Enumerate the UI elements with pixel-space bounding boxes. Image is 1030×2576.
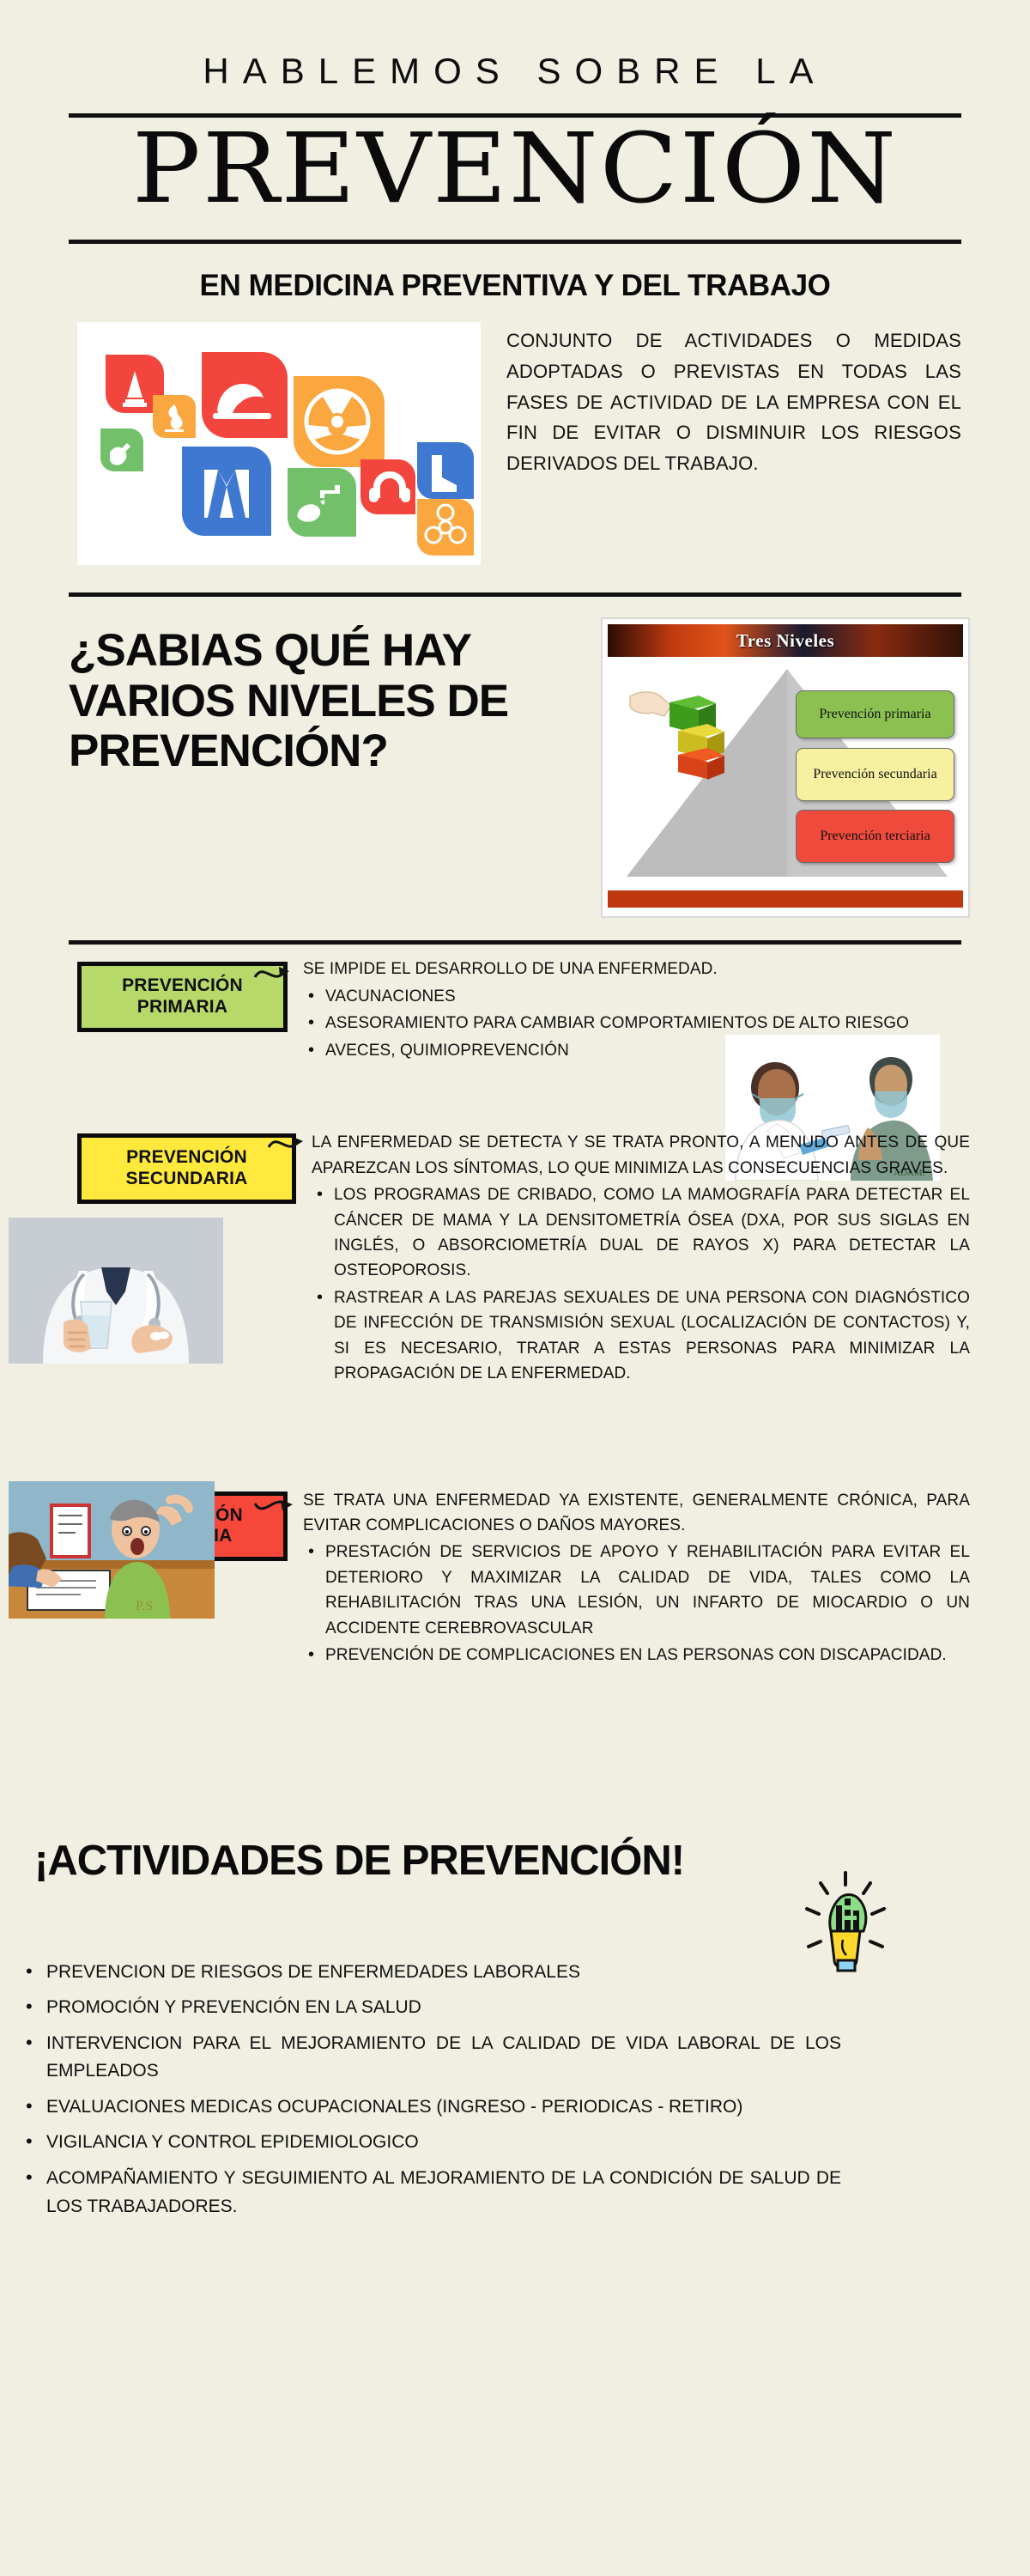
activities-section: ¡ACTIVIDADES DE PREVENCIÓN! PREVENCION D…: [0, 1668, 1030, 2221]
stacked-colored-blocks-with-hand: [630, 692, 724, 780]
list-item: PREVENCION DE RIESGOS DE ENFERMEDADES LA…: [17, 1959, 841, 1987]
safety-gloves-icon: [100, 428, 143, 471]
list-item: PREVENCIÓN DE COMPLICACIONES EN LAS PERS…: [303, 1643, 970, 1668]
page-title: PREVENCIÓN: [42, 121, 988, 217]
arrow-primaria-icon: [253, 960, 291, 989]
page-subtitle: EN MEDICINA PREVENTIVA Y DEL TRABAJO: [172, 268, 858, 303]
safety-helmet-icon: [202, 352, 288, 438]
fire-flame-icon: [153, 395, 196, 438]
terciaria-body: SE TRATA UNA ENFERMEDAD YA EXISTENTE, GE…: [303, 1488, 970, 1668]
safety-icons-svg: [77, 322, 481, 565]
pyramid-label-secundaria: Prevención secundaria: [796, 748, 954, 801]
biohazard-icon: [417, 499, 474, 556]
tag-prevencion-secundaria: PREVENCIÓN SECUNDARIA: [77, 1133, 296, 1204]
arrow-terciaria-icon: [253, 1492, 294, 1521]
primaria-lead: SE IMPIDE EL DESARROLLO DE UNA ENFERMEDA…: [303, 957, 970, 981]
safety-vest-icon: [182, 447, 271, 536]
arrow-secundaria-icon: [267, 1132, 305, 1161]
worried-student-exam-cartoon: P.S: [9, 1481, 215, 1619]
divider-under-title: [69, 240, 961, 244]
kicker-text: HABLEMOS SOBRE LA: [69, 52, 961, 91]
secundaria-bullets: LOS PROGRAMAS DE CRIBADO, COMO LA MAMOGR…: [312, 1182, 970, 1387]
list-item: ASESORAMIENTO PARA CAMBIAR COMPORTAMIENT…: [303, 1011, 970, 1036]
activities-list: PREVENCION DE RIESGOS DE ENFERMEDADES LA…: [17, 1959, 978, 2221]
doctor-holding-pills-and-water-photo: [9, 1218, 223, 1364]
pyramid-footer-bar: [608, 890, 963, 908]
list-item: PRESTACIÓN DE SERVICIOS DE APOYO Y REHAB…: [303, 1540, 970, 1641]
level-terciaria: PREVENCIÓN TERCIARIA SE TRATA UNA ENFERM…: [0, 1387, 1030, 1668]
level-secundaria: PREVENCIÓN SECUNDARIA LA ENFERMEDAD SE D…: [0, 1063, 1030, 1386]
svg-text:P.S: P.S: [136, 1599, 153, 1613]
intro-paragraph: CONJUNTO DE ACTIVIDADES O MEDIDAS ADOPTA…: [506, 322, 961, 478]
list-item: PROMOCIÓN Y PREVENCIÓN EN LA SALUD: [17, 1994, 841, 2022]
ear-protection-goggles-icon: [360, 459, 415, 514]
safety-boot-icon: [417, 442, 474, 499]
student-cartoon-illustration: P.S: [9, 1481, 215, 1619]
header: HABLEMOS SOBRE LA PREVENCIÓN EN MEDICINA…: [0, 0, 1030, 303]
secundaria-lead: LA ENFERMEDAD SE DETECTA Y SE TRATA PRON…: [312, 1130, 970, 1181]
levels-intro-section: ¿SABIAS QUÉ HAY VARIOS NIVELES DE PREVEN…: [0, 597, 1030, 918]
list-item: VACUNACIONES: [303, 984, 970, 1009]
terciaria-lead: SE TRATA UNA ENFERMEDAD YA EXISTENTE, GE…: [303, 1488, 970, 1539]
list-item: LOS PROGRAMAS DE CRIBADO, COMO LA MAMOGR…: [312, 1182, 970, 1284]
terciaria-bullets: PRESTACIÓN DE SERVICIOS DE APOYO Y REHAB…: [303, 1540, 970, 1668]
pyramid-label-primaria: Prevención primaria: [796, 690, 954, 738]
doctor-pills-illustration: [9, 1218, 223, 1364]
hand-washing-icon: [288, 468, 356, 537]
list-item: RASTREAR A LAS PAREJAS SEXUALES DE UNA P…: [312, 1285, 970, 1387]
list-item: ACOMPAÑAMIENTO Y SEGUIMIENTO AL MEJORAMI…: [17, 2165, 841, 2221]
radiation-icon: [294, 376, 385, 467]
intro-section: CONJUNTO DE ACTIVIDADES O MEDIDAS ADOPTA…: [0, 303, 1030, 565]
levels-heading: ¿SABIAS QUÉ HAY VARIOS NIVELES DE PREVEN…: [69, 617, 582, 776]
tres-niveles-pyramid-image: Tres Niveles Prevención primaria Prevenc…: [601, 617, 970, 918]
list-item: INTERVENCION PARA EL MEJORAMIENTO DE LA …: [17, 2030, 841, 2086]
divider-intro-bottom-wrap: [0, 565, 1030, 597]
pyramid-label-terciaria: Prevención terciaria: [796, 810, 954, 863]
list-item: EVALUACIONES MEDICAS OCUPACIONALES (INGR…: [17, 2093, 841, 2122]
secundaria-body: LA ENFERMEDAD SE DETECTA Y SE TRATA PRON…: [312, 1130, 970, 1386]
level-primaria: PREVENCIÓN PRIMARIA SE IMPIDE EL DESARRO…: [0, 945, 1030, 1063]
list-item: VIGILANCIA Y CONTROL EPIDEMIOLOGICO: [17, 2129, 841, 2157]
workplace-safety-icons-collage: [77, 322, 481, 565]
